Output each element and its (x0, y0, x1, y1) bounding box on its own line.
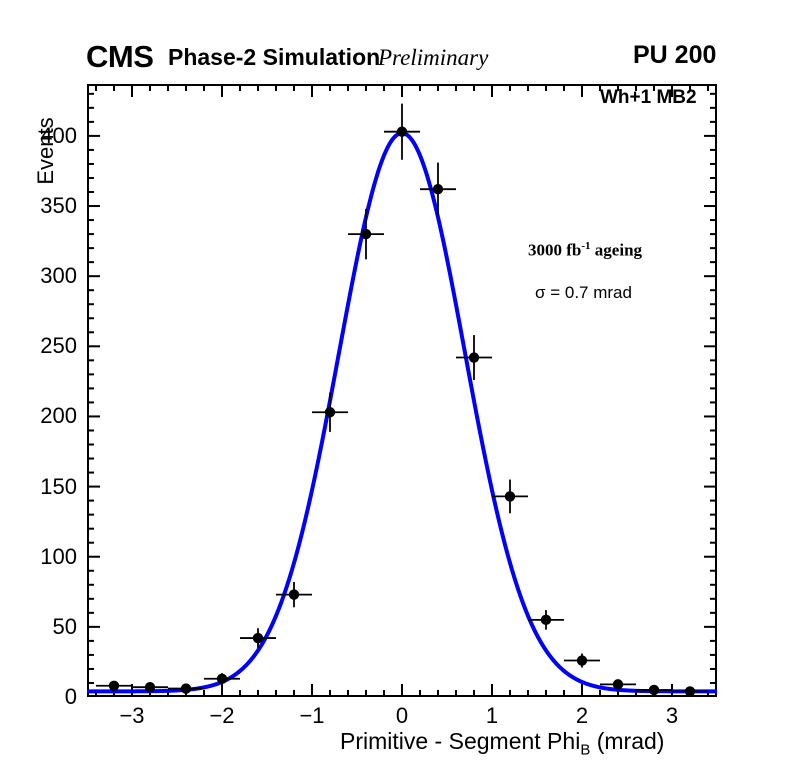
y-tick-label: 400 (0, 125, 77, 147)
cms-logo-text: CMS (86, 41, 153, 72)
x-tick-label: −3 (119, 705, 144, 727)
y-tick-label: 200 (0, 405, 77, 427)
pileup-label: PU 200 (633, 43, 716, 68)
plot-area (87, 84, 717, 697)
x-axis-title: Primitive - Segment PhiB (mrad) (340, 730, 664, 758)
y-tick-label: 50 (0, 616, 77, 638)
lumi-exponent: -1 (581, 240, 590, 252)
data-marker (433, 184, 443, 194)
data-marker (109, 681, 119, 691)
x-tick-label: 0 (396, 705, 408, 727)
data-marker (325, 407, 335, 417)
x-axis-title-subscript: B (580, 742, 590, 759)
data-marker (505, 491, 515, 501)
gaussian-fit-curve (87, 133, 717, 691)
y-tick-label: 150 (0, 476, 77, 498)
sigma-annotation: σ = 0.7 mrad (535, 284, 632, 301)
y-tick-label: 0 (0, 686, 77, 708)
data-marker (145, 682, 155, 692)
data-points (96, 104, 708, 697)
preliminary-label: Preliminary (378, 46, 488, 69)
data-marker (685, 686, 695, 696)
x-tick-label: −1 (299, 705, 324, 727)
x-tick-label: 2 (576, 705, 588, 727)
luminosity-annotation: 3000 fb-1 ageing (528, 241, 642, 259)
data-marker (649, 685, 659, 695)
x-tick-label: 1 (486, 705, 498, 727)
plot-header: CMS Phase-2 Simulation Preliminary PU 20… (0, 0, 796, 80)
x-tick-label: 3 (666, 705, 678, 727)
data-marker (253, 633, 263, 643)
x-axis-title-units: (mrad) (590, 728, 664, 754)
y-tick-label: 250 (0, 335, 77, 357)
data-marker (613, 679, 623, 689)
data-marker (469, 352, 479, 362)
y-tick-label: 350 (0, 195, 77, 217)
data-marker (289, 589, 299, 599)
plot-canvas: CMS Phase-2 Simulation Preliminary PU 20… (0, 0, 796, 772)
x-tick-label: −2 (209, 705, 234, 727)
simulation-label: Phase-2 Simulation (168, 46, 380, 69)
data-marker (577, 655, 587, 665)
data-marker (397, 126, 407, 136)
x-axis-title-main: Primitive - Segment Phi (340, 728, 580, 754)
lumi-suffix: ageing (591, 241, 642, 260)
axis-ticks (87, 84, 717, 697)
data-marker (181, 683, 191, 693)
data-marker (217, 674, 227, 684)
y-tick-label: 100 (0, 546, 77, 568)
y-tick-label: 300 (0, 265, 77, 287)
lumi-value: 3000 fb (528, 241, 581, 260)
chamber-label: Wh+1 MB2 (600, 88, 697, 107)
data-marker (361, 229, 371, 239)
data-marker (541, 615, 551, 625)
